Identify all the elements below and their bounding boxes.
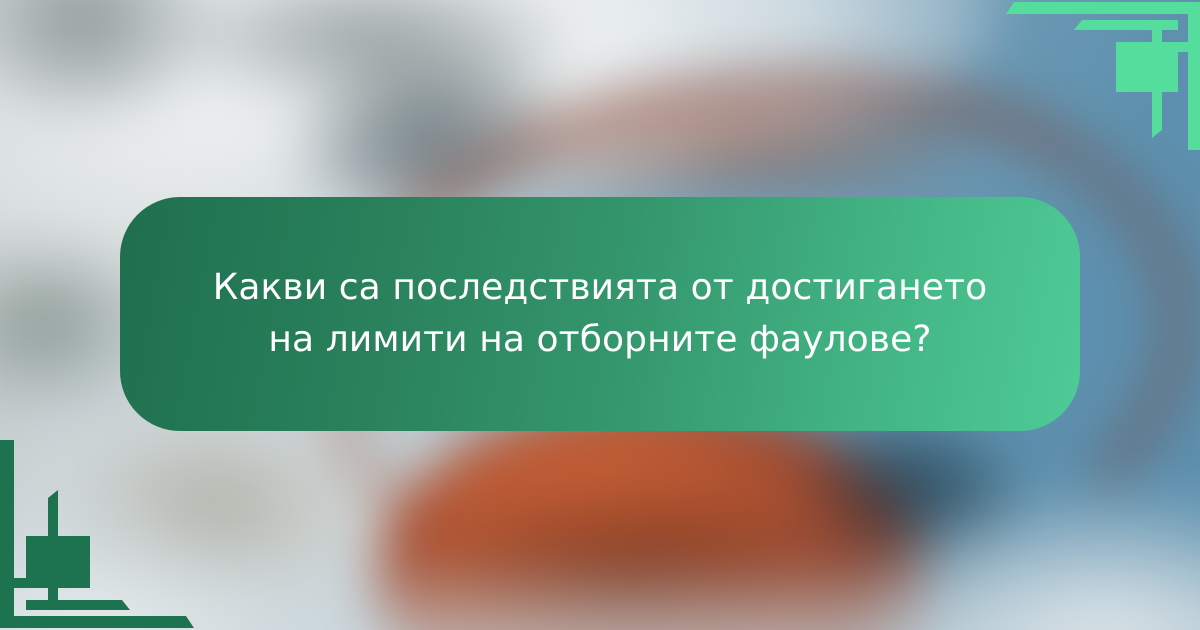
- question-title: Какви са последствията от достигането на…: [200, 262, 1000, 366]
- floor-haze-right: [864, 495, 1200, 630]
- foliage-blob-b: [178, 0, 574, 105]
- floor-haze-left: [0, 495, 362, 630]
- question-card: Какви са последствията от достигането на…: [120, 197, 1080, 431]
- hoop-rim-glow: [521, 83, 970, 188]
- screenshot-canvas: Какви са последствията от достигането на…: [0, 0, 1200, 630]
